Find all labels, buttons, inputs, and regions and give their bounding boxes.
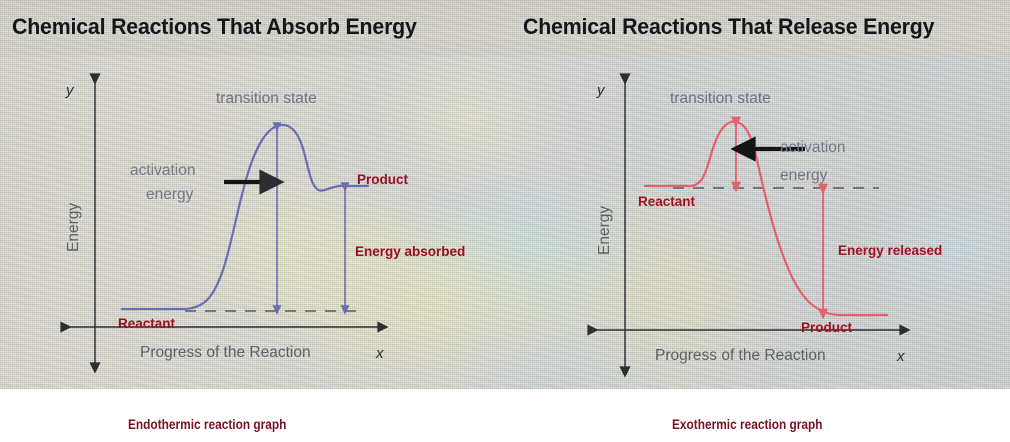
reactant-label: Reactant — [118, 316, 176, 331]
endothermic-energy-profile-chart: y x Energy Progress of the Reaction tran… — [0, 0, 505, 389]
x-axis-symbol: x — [375, 345, 384, 362]
activation-energy-label-line2: energy — [146, 186, 194, 203]
panel-exothermic: Chemical Reactions That Release Energy y — [505, 0, 1010, 389]
activation-energy-label-line1: activation — [780, 139, 845, 156]
transition-state-label: transition state — [670, 90, 771, 107]
exothermic-energy-profile-chart: y x Energy Progress of the Reaction tran… — [505, 0, 1010, 389]
x-axis-symbol: x — [896, 348, 905, 365]
product-label: Product — [801, 320, 853, 335]
photographed-slide-area: Chemical Reactions That Absorb Energy — [0, 0, 1010, 389]
diagram-root: Chemical Reactions That Absorb Energy — [0, 0, 1010, 442]
energy-absorbed-label: Energy absorbed — [355, 244, 465, 259]
activation-energy-label-line1: activation — [130, 162, 195, 179]
caption-exothermic: Exothermic reaction graph — [672, 417, 823, 432]
transition-state-label: transition state — [216, 90, 317, 107]
reactant-label: Reactant — [638, 194, 696, 209]
product-label: Product — [357, 172, 409, 187]
y-axis-label: Energy — [65, 203, 82, 252]
y-axis-symbol: y — [596, 82, 606, 99]
endothermic-energy-curve — [122, 125, 368, 309]
x-axis-label: Progress of the Reaction — [655, 347, 826, 364]
caption-endothermic: Endothermic reaction graph — [128, 417, 286, 432]
y-axis-symbol: y — [65, 82, 75, 99]
y-axis-label: Energy — [596, 206, 613, 255]
x-axis-label: Progress of the Reaction — [140, 344, 311, 361]
energy-released-label: Energy released — [838, 243, 942, 258]
activation-energy-label-line2: energy — [780, 167, 828, 184]
panel-endothermic: Chemical Reactions That Absorb Energy — [0, 0, 505, 389]
